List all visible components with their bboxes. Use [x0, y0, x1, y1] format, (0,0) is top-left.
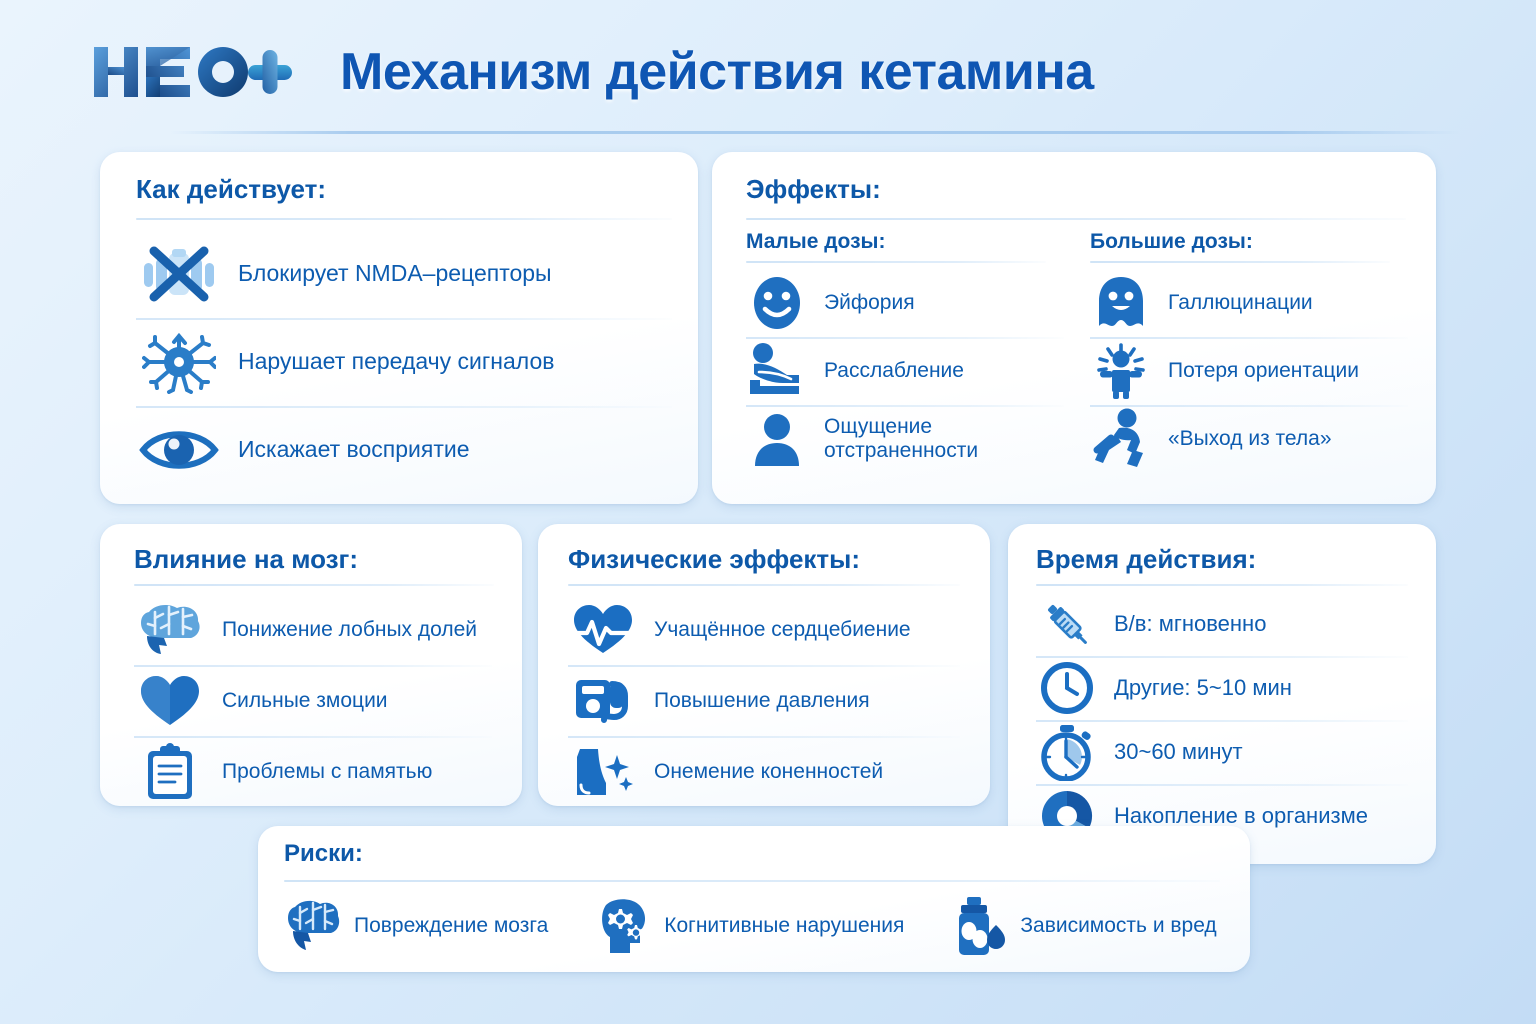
column-title: Большие дозы:	[1090, 230, 1412, 261]
list-item-label: Понижение лобных долей	[222, 618, 477, 642]
page-title: Механизм действия кетамина	[340, 42, 1094, 102]
card-divider	[134, 584, 494, 586]
blood-pressure-monitor-icon	[568, 671, 638, 731]
heartbeat-icon	[568, 600, 638, 660]
card-title: Физические эффекты:	[568, 544, 860, 575]
list-item-label: Повреждение мозга	[354, 914, 548, 938]
heart-icon	[134, 671, 206, 731]
list-item: Повреждение мозга	[284, 895, 548, 957]
list-item: Ощущение отстраненности	[746, 405, 1068, 473]
eye-icon	[136, 415, 222, 485]
infographic-page: Механизм действия кетамина Как действует…	[0, 0, 1536, 1024]
list-item-label: 30~60 минут	[1114, 740, 1243, 765]
pill-bottle-icon	[950, 895, 1008, 957]
card-brain-impact: Влияние на мозг:	[100, 524, 522, 806]
list-item-label: Сильные змоции	[222, 689, 388, 713]
card-title: Эффекты:	[746, 174, 881, 205]
list-item-label: Галлюцинации	[1168, 291, 1313, 315]
list-item-label: Другие: 5~10 мин	[1114, 676, 1292, 701]
card-title: Влияние на мозг:	[134, 544, 358, 575]
card-divider	[1036, 584, 1408, 586]
list-item-label: Потеря ориентации	[1168, 359, 1359, 383]
page-header: Механизм действия кетамина	[0, 0, 1536, 132]
card-effects: Эффекты: Малые дозы:	[712, 152, 1436, 504]
numb-foot-icon	[568, 742, 638, 802]
list-item: Другие: 5~10 мин	[1036, 656, 1412, 720]
floating-person-icon	[1090, 410, 1152, 468]
column-divider	[746, 261, 1046, 263]
dizzy-person-icon	[1090, 342, 1152, 400]
syringe-icon	[1036, 596, 1098, 652]
list-item: Зависимость и вред	[950, 895, 1216, 957]
list-item: В/в: мгновенно	[1036, 592, 1412, 656]
list-item-label: Искажает восприятие	[238, 437, 470, 463]
list-item: Эйфория	[746, 269, 1068, 337]
card-title: Время действия:	[1036, 544, 1256, 575]
list-item-label: Блокирует NMDA–рецепторы	[238, 261, 552, 287]
card-title: Риски:	[284, 840, 363, 868]
list-item: Повышение давления	[568, 665, 964, 736]
list-item: Нарушает передачу сигналов	[136, 318, 676, 406]
list-item-label: «Выход из тела»	[1168, 427, 1332, 451]
list-item-label: Эйфория	[824, 291, 915, 315]
neo-plus-logo	[92, 38, 302, 106]
list-item: Онемение коненностей	[568, 736, 964, 807]
card-physical-effects: Физические эффекты: Учащённое сердцебиен…	[538, 524, 990, 806]
list-item: «Выход из тела»	[1090, 405, 1412, 473]
list-item: Блокирует NMDA–рецепторы	[136, 230, 676, 318]
list-item-label: Проблемы с памятью	[222, 760, 432, 784]
list-item: Потеря ориентации	[1090, 337, 1412, 405]
list-item-label: Повышение давления	[654, 689, 870, 713]
list-item-label: Ощущение отстраненности	[824, 415, 1068, 462]
list-item: Галлюцинации	[1090, 269, 1412, 337]
ghost-icon	[1090, 274, 1152, 332]
neuron-icon	[136, 327, 222, 397]
card-divider	[746, 218, 1406, 220]
blocked-receptor-icon	[136, 239, 222, 309]
card-duration: Время действия:	[1008, 524, 1436, 864]
list-item: Понижение лобных долей	[134, 594, 496, 665]
card-title: Как действует:	[136, 174, 326, 205]
column-high-doses: Большие дозы: Галлюцинации	[1090, 230, 1412, 473]
list-item: Искажает восприятие	[136, 406, 676, 494]
brain-icon	[134, 600, 206, 660]
column-low-doses: Малые дозы: Эйфория	[746, 230, 1068, 473]
card-how-it-works: Как действует:	[100, 152, 698, 504]
head-gears-icon	[594, 895, 652, 957]
list-item-label: Онемение коненностей	[654, 760, 883, 784]
list-item-label: Накопление в организме	[1114, 804, 1368, 829]
list-item-label: В/в: мгновенно	[1114, 612, 1266, 637]
reclining-person-icon	[746, 342, 808, 400]
list-item: Сильные змоции	[134, 665, 496, 736]
card-risks: Риски:	[258, 826, 1250, 972]
smiley-face-icon	[746, 274, 808, 332]
list-item-label: Когнитивные нарушения	[664, 914, 904, 938]
list-item: Проблемы с памятью	[134, 736, 496, 807]
person-bust-icon	[746, 410, 808, 468]
card-divider	[136, 218, 672, 220]
brain-damage-icon	[284, 895, 342, 957]
list-item-label: Расслабление	[824, 359, 964, 383]
card-divider	[568, 584, 960, 586]
list-item: Учащённое сердцебиение	[568, 594, 964, 665]
stopwatch-icon	[1036, 724, 1098, 780]
list-item: Расслабление	[746, 337, 1068, 405]
list-item: 30~60 минут	[1036, 720, 1412, 784]
list-item-label: Учащённое сердцебиение	[654, 618, 911, 642]
header-divider	[170, 131, 1460, 134]
list-item: Когнитивные нарушения	[594, 895, 904, 957]
column-divider	[1090, 261, 1390, 263]
clipboard-icon	[134, 742, 206, 802]
card-divider	[284, 880, 1220, 882]
column-title: Малые дозы:	[746, 230, 1068, 261]
list-item-label: Зависимость и вред	[1020, 914, 1216, 938]
list-item-label: Нарушает передачу сигналов	[238, 349, 554, 375]
clock-icon	[1036, 660, 1098, 716]
